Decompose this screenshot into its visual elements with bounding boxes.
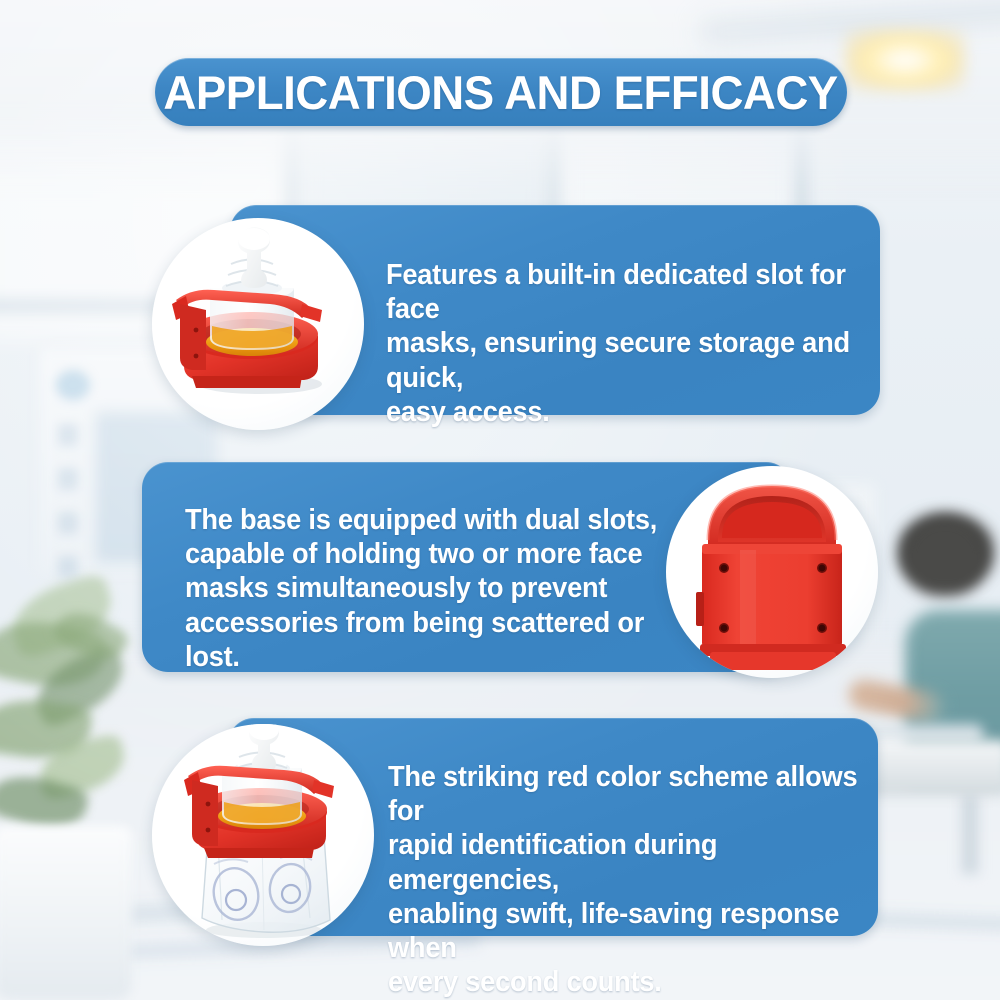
feature-text-2: The base is equipped with dual slots, ca… — [185, 503, 663, 674]
feature-text-3: The striking red color scheme allows for… — [388, 760, 866, 999]
notice-board-dot — [58, 424, 78, 446]
suction-unit-with-mask-bag-illustration — [152, 724, 374, 946]
feature-image-1 — [152, 218, 364, 430]
feature-image-2 — [666, 466, 878, 678]
ceiling-light — [845, 29, 965, 91]
notice-board-dot — [58, 512, 78, 534]
page-title: APPLICATIONS AND EFFICACY — [164, 65, 838, 120]
nurse-head — [902, 516, 988, 596]
suction-unit-illustration — [152, 218, 364, 430]
notice-board-dot — [58, 468, 78, 490]
wall-mount-bracket-illustration — [666, 466, 878, 678]
page-title-pill: APPLICATIONS AND EFFICACY — [155, 58, 847, 126]
feature-text-1: Features a built-in dedicated slot for f… — [386, 258, 864, 429]
notice-board-logo — [56, 370, 90, 400]
infographic-canvas: Emergency Emergency APPLICATIONS AND EFF… — [0, 0, 1000, 1000]
plant-pot — [0, 826, 132, 1000]
notice-board-dot — [58, 556, 78, 578]
feature-image-3 — [152, 724, 374, 946]
bed-leg — [962, 790, 978, 874]
